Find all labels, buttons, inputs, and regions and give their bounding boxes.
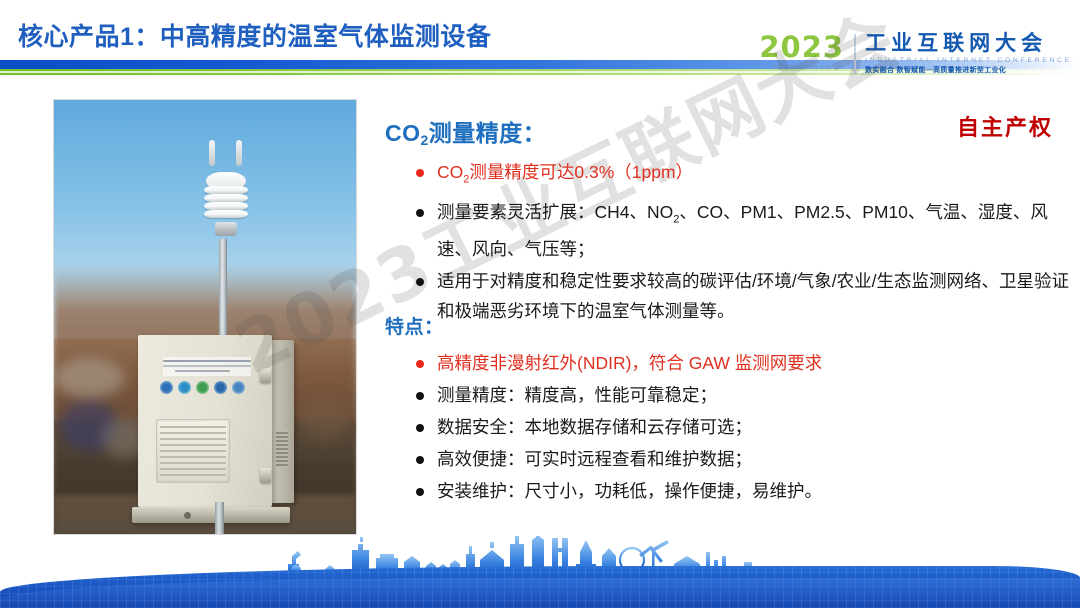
sensor-mast bbox=[219, 239, 227, 341]
status-badge-ownership: 自主产权 bbox=[957, 110, 1053, 142]
badge-icon bbox=[196, 381, 209, 394]
section1-bullet-list: CO2测量精度可达0.3%（1ppm） 测量要素灵活扩展：CH4、NO2、CO、… bbox=[411, 157, 1071, 328]
slide-footer bbox=[0, 536, 1080, 608]
section1-heading-sub: 2 bbox=[421, 132, 429, 148]
badge-icon bbox=[160, 381, 173, 394]
radiation-shield-sensor bbox=[202, 160, 250, 222]
photo-bokeh bbox=[300, 396, 350, 440]
list-item: 数据安全：本地数据存储和云存储可选； bbox=[411, 412, 1071, 442]
conference-logo-name-block: 工业互联网大会 INDUSTRIAL INTERNET CONFERENCE 数… bbox=[865, 32, 1072, 76]
badge-icon bbox=[178, 381, 191, 394]
shield-foot bbox=[215, 222, 237, 236]
section1-heading-pre: CO bbox=[385, 120, 421, 146]
shield-prong bbox=[209, 140, 215, 166]
section-heading-features: 特点： bbox=[385, 318, 444, 337]
bullet-text: 适用于对精度和稳定性要求较高的碳评估/环境/气象/农业/生态监测网络、卫星验证和… bbox=[437, 271, 1069, 321]
list-item: 测量要素灵活扩展：CH4、NO2、CO、PM1、PM2.5、PM10、气温、湿度… bbox=[411, 197, 1071, 265]
enclosure-label bbox=[163, 357, 251, 376]
badge-icon bbox=[214, 381, 227, 394]
page-title: 核心产品1：中高精度的温室气体监测设备 bbox=[18, 17, 491, 53]
device-photo bbox=[53, 99, 357, 535]
list-item: CO2测量精度可达0.3%（1ppm） bbox=[411, 157, 1071, 195]
conference-logo: 2023 中国·苏州 8月14日-15日 工业互联网大会 INDUSTRIAL … bbox=[759, 32, 1072, 80]
conference-logo-year-block: 2023 中国·苏州 8月14日-15日 bbox=[759, 32, 854, 71]
conference-slogan: 数实融合 数智赋能—高质量推进新型工业化 bbox=[865, 66, 1072, 76]
section2-bullet-list: 高精度非漫射红外(NDIR)，符合 GAW 监测网要求 测量精度：精度高，性能可… bbox=[411, 348, 1071, 508]
badge-icon bbox=[232, 381, 245, 394]
photo-bokeh bbox=[54, 358, 124, 398]
shield-plate bbox=[204, 194, 248, 202]
bullet-text: 高精度非漫射红外(NDIR)，符合 GAW 监测网要求 bbox=[437, 353, 822, 373]
shield-plate bbox=[204, 210, 248, 218]
certification-badges bbox=[160, 381, 245, 394]
bullet-text: 高效便捷：可实时远程查看和维护数据； bbox=[437, 449, 752, 469]
conference-name-en: INDUSTRIAL INTERNET CONFERENCE bbox=[865, 56, 1072, 65]
section-heading-co2-accuracy: CO2测量精度： bbox=[385, 122, 546, 145]
enclosure-side-vent bbox=[276, 430, 288, 468]
content-panel: 自主产权 CO2测量精度： CO2测量精度可达0.3%（1ppm） 测量要素灵活… bbox=[383, 100, 1073, 530]
list-item: 高精度非漫射红外(NDIR)，符合 GAW 监测网要求 bbox=[411, 348, 1071, 378]
logo-divider bbox=[854, 34, 856, 74]
section1-heading-post: 测量精度： bbox=[429, 120, 547, 146]
enclosure-latch bbox=[260, 368, 271, 383]
enclosure-box bbox=[138, 335, 272, 507]
shield-plate bbox=[204, 186, 248, 194]
list-item: 安装维护：尺寸小，功耗低，操作便捷，易维护。 bbox=[411, 476, 1071, 506]
support-pole bbox=[215, 502, 224, 535]
bullet-text: 测量要素灵活扩展：CH4、NO2、CO、PM1、PM2.5、PM10、气温、湿度… bbox=[437, 202, 1048, 260]
enclosure-mounting-bracket bbox=[132, 507, 290, 523]
conference-logo-date: 中国·苏州 8月14日-15日 bbox=[759, 64, 844, 71]
bullet-text: 数据安全：本地数据存储和云存储可选； bbox=[437, 417, 752, 437]
enclosure-latch bbox=[260, 468, 271, 483]
slide-header: 核心产品1：中高精度的温室气体监测设备 2023 中国·苏州 8月14日-15日… bbox=[0, 0, 1080, 82]
shield-prong bbox=[236, 140, 242, 166]
slide-root: 核心产品1：中高精度的温室气体监测设备 2023 中国·苏州 8月14日-15日… bbox=[0, 0, 1080, 608]
enclosure-vent-grille bbox=[156, 419, 230, 483]
list-item: 高效便捷：可实时远程查看和维护数据； bbox=[411, 444, 1071, 474]
conference-name-cn: 工业互联网大会 bbox=[865, 32, 1072, 55]
list-item: 适用于对精度和稳定性要求较高的碳评估/环境/气象/农业/生态监测网络、卫星验证和… bbox=[411, 266, 1071, 326]
bullet-text: 安装维护：尺寸小，功耗低，操作便捷，易维护。 bbox=[437, 481, 822, 501]
conference-logo-year: 2023 bbox=[759, 32, 844, 62]
enclosure-side-panel bbox=[272, 340, 294, 503]
bullet-text: CO2测量精度可达0.3%（1ppm） bbox=[437, 162, 693, 182]
list-item: 测量精度：精度高，性能可靠稳定； bbox=[411, 380, 1071, 410]
shield-plate bbox=[204, 202, 248, 210]
bullet-text: 测量精度：精度高，性能可靠稳定； bbox=[437, 385, 717, 405]
